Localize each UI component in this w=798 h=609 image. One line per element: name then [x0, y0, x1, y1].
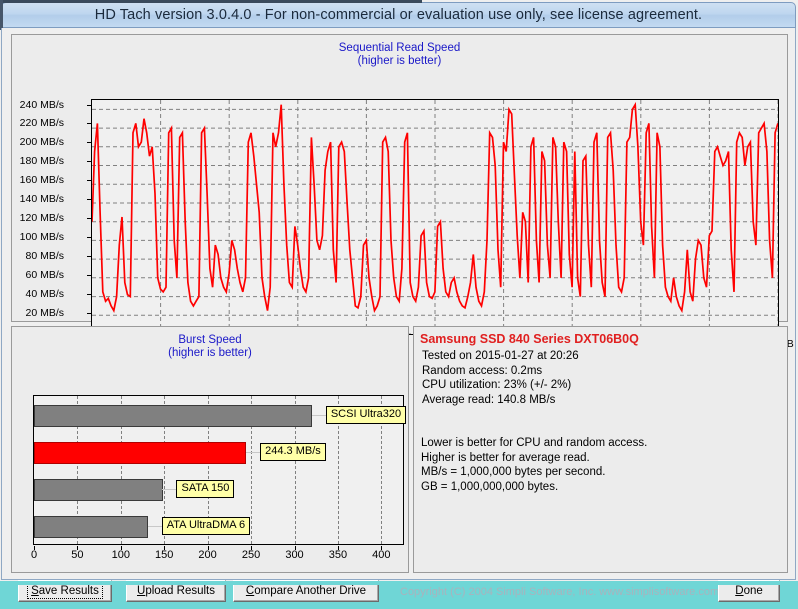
burst-speed-subtitle: (higher is better) — [12, 347, 408, 360]
seq-ytick-180: 180 MB/s — [20, 155, 64, 167]
save-accel-key: S — [31, 585, 39, 597]
sequential-read-subtitle: (higher is better) — [12, 55, 787, 68]
sequential-read-panel: Sequential Read Speed (higher is better)… — [11, 34, 788, 322]
seq-ytick-240: 240 MB/s — [20, 99, 64, 111]
seq-ytick-160: 160 MB/s — [20, 174, 64, 186]
window-title: HD Tach version 3.0.4.0 - For non-commer… — [95, 7, 702, 23]
compare-label-rest: ompare Another Drive — [254, 585, 366, 597]
drive-model-name: Samsung SSD 840 Series DXT06B0Q — [420, 332, 639, 346]
burst-xtick-mark — [77, 546, 78, 550]
drive-info-panel: Samsung SSD 840 Series DXT06B0Q Tested o… — [413, 326, 788, 573]
note-line-2: Higher is better for average read. — [421, 451, 647, 466]
drive-info-inner: Samsung SSD 840 Series DXT06B0Q Tested o… — [418, 331, 785, 570]
seq-ytick-220: 220 MB/s — [20, 117, 64, 129]
cpu-utilization-line: CPU utilization: 23% (+/- 2%) — [422, 378, 579, 393]
titlebar-top-edge — [0, 0, 422, 3]
seq-ytick-40: 40 MB/s — [25, 288, 64, 300]
save-label-rest: ave Results — [39, 585, 99, 597]
burst-xtick-mark — [251, 546, 252, 550]
copyright-notice: Copyright (C) 2004 Simpli Software, Inc.… — [400, 586, 719, 598]
seq-ytick-80: 80 MB/s — [25, 250, 64, 262]
explanatory-notes: Lower is better for CPU and random acces… — [421, 436, 647, 494]
burst-bar-result — [34, 442, 246, 464]
compare-accel-key: C — [246, 585, 254, 597]
window-titlebar: HD Tach version 3.0.4.0 - For non-commer… — [1, 2, 796, 28]
burst-bar-reference — [34, 516, 148, 538]
save-results-label: Save Results — [27, 583, 103, 599]
burst-value-callout: 244.3 MB/s — [260, 443, 326, 461]
burst-xtick-label: 300 — [285, 549, 303, 561]
desktop-background-strip — [0, 581, 798, 585]
compare-another-drive-label: Compare Another Drive — [246, 585, 366, 597]
burst-xtick-label: 200 — [198, 549, 216, 561]
burst-xtick-mark — [295, 546, 296, 550]
burst-xtick-label: 150 — [155, 549, 173, 561]
note-line-4: GB = 1,000,000,000 bytes. — [421, 480, 647, 495]
burst-xtick-mark — [208, 546, 209, 550]
burst-xtick-label: 250 — [242, 549, 260, 561]
random-access-line: Random access: 0.2ms — [422, 364, 579, 379]
note-line-3: MB/s = 1,000,000 bytes per second. — [421, 465, 647, 480]
seq-ytick-20: 20 MB/s — [25, 307, 64, 319]
burst-xtick-label: 400 — [372, 549, 390, 561]
burst-speed-title: Burst Speed — [12, 334, 408, 347]
sequential-read-plot — [91, 99, 779, 335]
burst-leader-line — [162, 489, 176, 490]
seq-ytick-100: 100 MB/s — [20, 231, 64, 243]
average-read-line: Average read: 140.8 MB/s — [422, 393, 579, 408]
upload-label-rest: pload Results — [145, 585, 215, 597]
note-line-1: Lower is better for CPU and random acces… — [421, 436, 647, 451]
done-accel-key: D — [735, 585, 743, 597]
burst-xtick-label: 350 — [329, 549, 347, 561]
burst-leader-line — [148, 526, 162, 527]
burst-reference-callout: SCSI Ultra320 — [326, 406, 406, 424]
sequential-read-title: Sequential Read Speed — [12, 42, 787, 55]
titlebar-left-edge — [0, 0, 3, 30]
upload-results-label: Upload Results — [137, 585, 215, 597]
window-client-area: Sequential Read Speed (higher is better)… — [1, 28, 796, 580]
burst-xtick-label: 100 — [112, 549, 130, 561]
burst-leader-line — [312, 415, 326, 416]
burst-bar-reference — [34, 405, 312, 427]
upload-accel-key: U — [137, 585, 145, 597]
burst-xtick-mark — [34, 546, 35, 550]
seq-ytick-140: 140 MB/s — [20, 193, 64, 205]
burst-xtick-label: 0 — [31, 549, 37, 561]
done-label: Done — [735, 585, 763, 597]
burst-reference-callout: SATA 150 — [176, 480, 234, 498]
sequential-read-line-chart — [92, 100, 778, 334]
burst-xtick-mark — [121, 546, 122, 550]
burst-bar-reference — [34, 479, 163, 501]
burst-xtick-mark — [338, 546, 339, 550]
tested-on-line: Tested on 2015-01-27 at 20:26 — [422, 349, 579, 364]
burst-speed-panel: Burst Speed (higher is better) SCSI Ultr… — [11, 326, 409, 573]
seq-ytick-120: 120 MB/s — [20, 212, 64, 224]
burst-leader-line — [246, 452, 260, 453]
seq-ytick-60: 60 MB/s — [25, 269, 64, 281]
burst-xtick-mark — [164, 546, 165, 550]
seq-gridlines — [92, 100, 778, 334]
burst-xtick-mark — [381, 546, 382, 550]
done-label-rest: one — [744, 585, 763, 597]
seq-ytick-200: 200 MB/s — [20, 136, 64, 148]
hd-tach-window: HD Tach version 3.0.4.0 - For non-commer… — [0, 0, 798, 581]
drive-statistics: Tested on 2015-01-27 at 20:26 Random acc… — [422, 349, 579, 407]
burst-reference-callout: ATA UltraDMA 6 — [162, 517, 250, 535]
burst-xtick-label: 50 — [71, 549, 83, 561]
